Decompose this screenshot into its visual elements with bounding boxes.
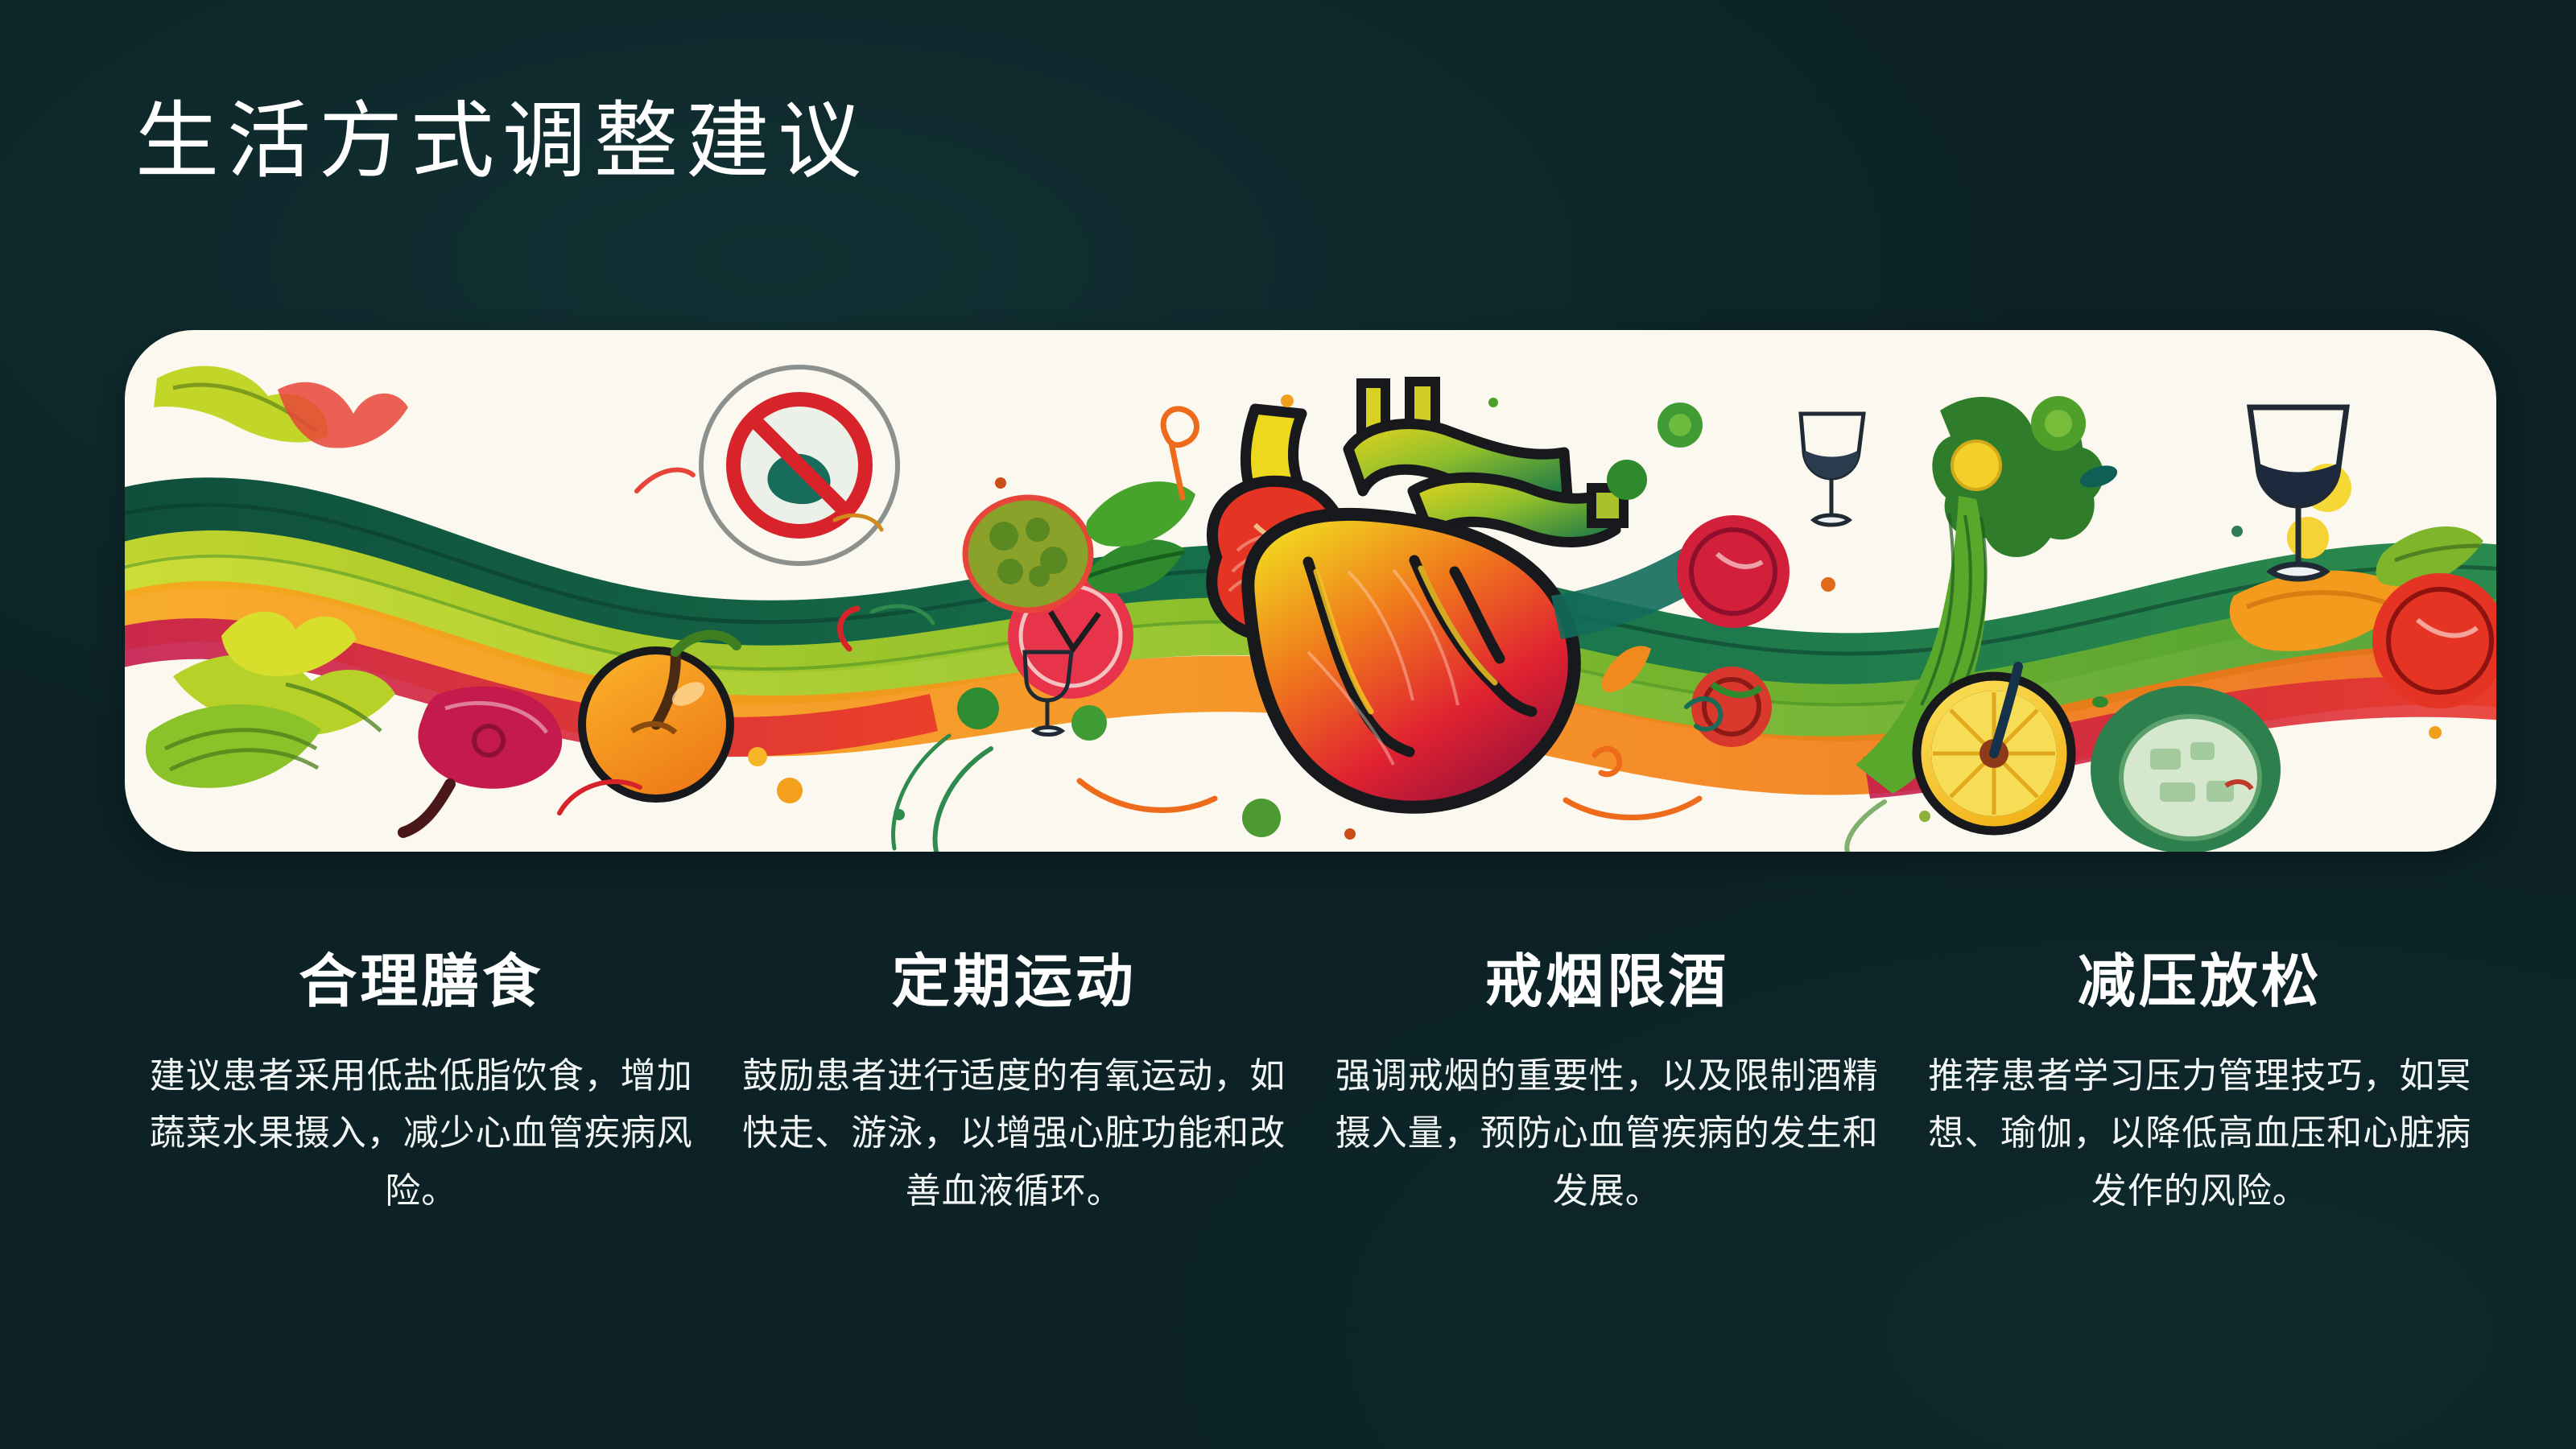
no-smoking-icon: [701, 367, 898, 563]
advice-card-stress-relief: 减压放松 推荐患者学习压力管理技巧，如冥想、瑜伽，以降低高血压和心脏病发作的风险…: [1904, 934, 2497, 1220]
advice-card-exercise: 定期运动 鼓励患者进行适度的有氧运动，如快走、游泳，以增强心脏功能和改善血液循环…: [718, 934, 1311, 1220]
advice-card-list: 合理膳食 建议患者采用低盐低脂饮食，增加蔬菜水果摄入，减少心血管疾病风险。 定期…: [125, 934, 2496, 1220]
advice-card-smoking-alcohol: 戒烟限酒 强调戒烟的重要性，以及限制酒精摄入量，预防心血管疾病的发生和发展。: [1311, 934, 1904, 1220]
wine-glass-mid: [1801, 414, 1864, 525]
card-description: 强调戒烟的重要性，以及限制酒精摄入量，预防心血管疾病的发生和发展。: [1331, 1047, 1883, 1220]
card-title: 定期运动: [892, 934, 1137, 1018]
healthy-lifestyle-illustration: [125, 330, 2496, 852]
card-description: 建议患者采用低盐低脂饮食，增加蔬菜水果摄入，减少心血管疾病风险。: [146, 1047, 697, 1220]
hero-illustration-banner: [125, 330, 2496, 852]
card-title: 戒烟限酒: [1484, 934, 1729, 1018]
card-description: 推荐患者学习压力管理技巧，如冥想、瑜伽，以降低高血压和心脏病发作的风险。: [1925, 1047, 2476, 1220]
card-description: 鼓励患者进行适度的有氧运动，如快走、游泳，以增强心脏功能和改善血液循环。: [739, 1047, 1290, 1220]
pepper-bottomleft: [403, 687, 562, 832]
page-title: 生活方式调整建议: [135, 95, 869, 191]
card-title: 减压放松: [2078, 934, 2322, 1018]
advice-card-diet: 合理膳食 建议患者采用低盐低脂饮食，增加蔬菜水果摄入，减少心血管疾病风险。: [125, 934, 718, 1220]
card-title: 合理膳食: [299, 934, 543, 1018]
avocado-slice: [2091, 686, 2281, 852]
